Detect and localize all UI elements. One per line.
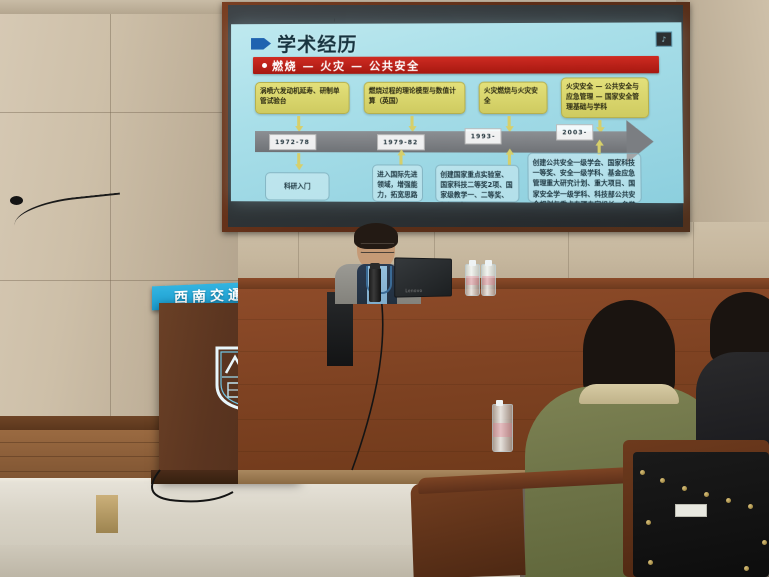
thermos-flask	[369, 268, 381, 302]
lecture-hall-photo: 学术经历 ♪ 燃烧 — 火灾 — 公共安全 涡喷六发动机延寿、研制单管试验台 燃…	[0, 0, 769, 577]
audience-1-fur-collar	[579, 384, 679, 404]
laptop-brand-label: Lenovo	[405, 288, 422, 293]
presenter-laptop: Lenovo	[394, 257, 452, 297]
chair-seat-number-tag	[675, 504, 707, 517]
glasses-icon	[360, 243, 395, 253]
water-bottle-table-2	[481, 264, 496, 296]
water-bottle-table-1	[465, 264, 480, 296]
chair-back-left	[410, 480, 525, 577]
water-bottle-front	[492, 404, 513, 452]
